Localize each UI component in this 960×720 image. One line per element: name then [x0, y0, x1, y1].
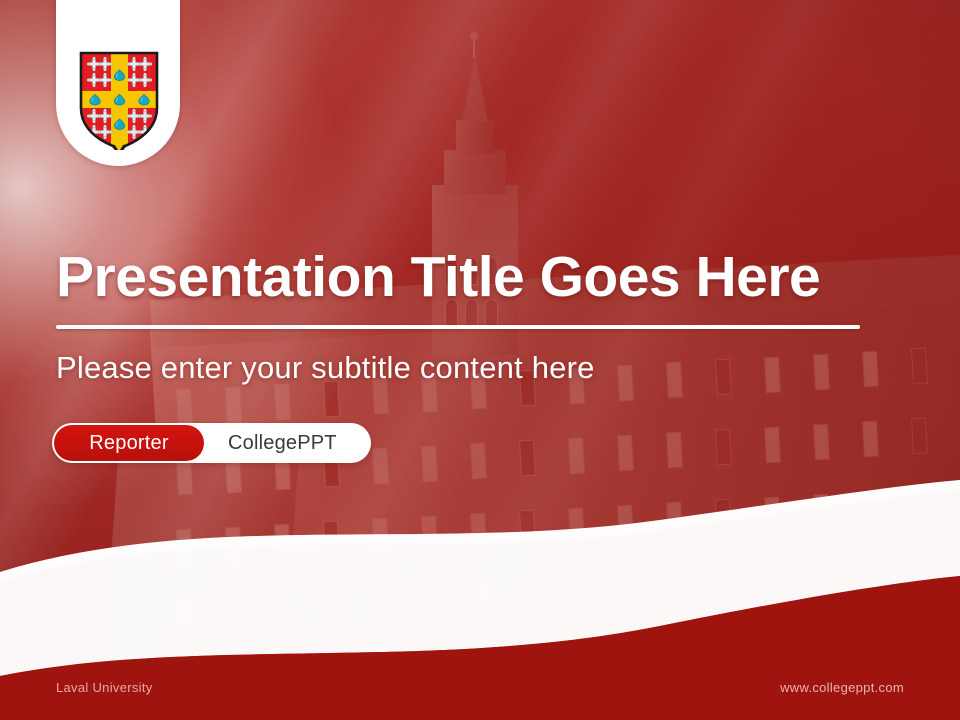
page-title: Presentation Title Goes Here — [56, 248, 896, 308]
reporter-role-badge: Reporter — [54, 425, 204, 461]
reporter-pill[interactable]: Reporter CollegePPT — [52, 423, 371, 463]
footer-institution-label: Laval University — [56, 680, 153, 695]
presentation-slide: Presentation Title Goes Here Please ente… — [0, 0, 960, 720]
reporter-name-label: CollegePPT — [206, 432, 355, 455]
laval-university-crest-icon — [78, 50, 160, 150]
page-subtitle: Please enter your subtitle content here — [56, 350, 896, 386]
title-divider-rule — [56, 325, 860, 329]
footer-website-label[interactable]: www.collegeppt.com — [780, 680, 904, 695]
